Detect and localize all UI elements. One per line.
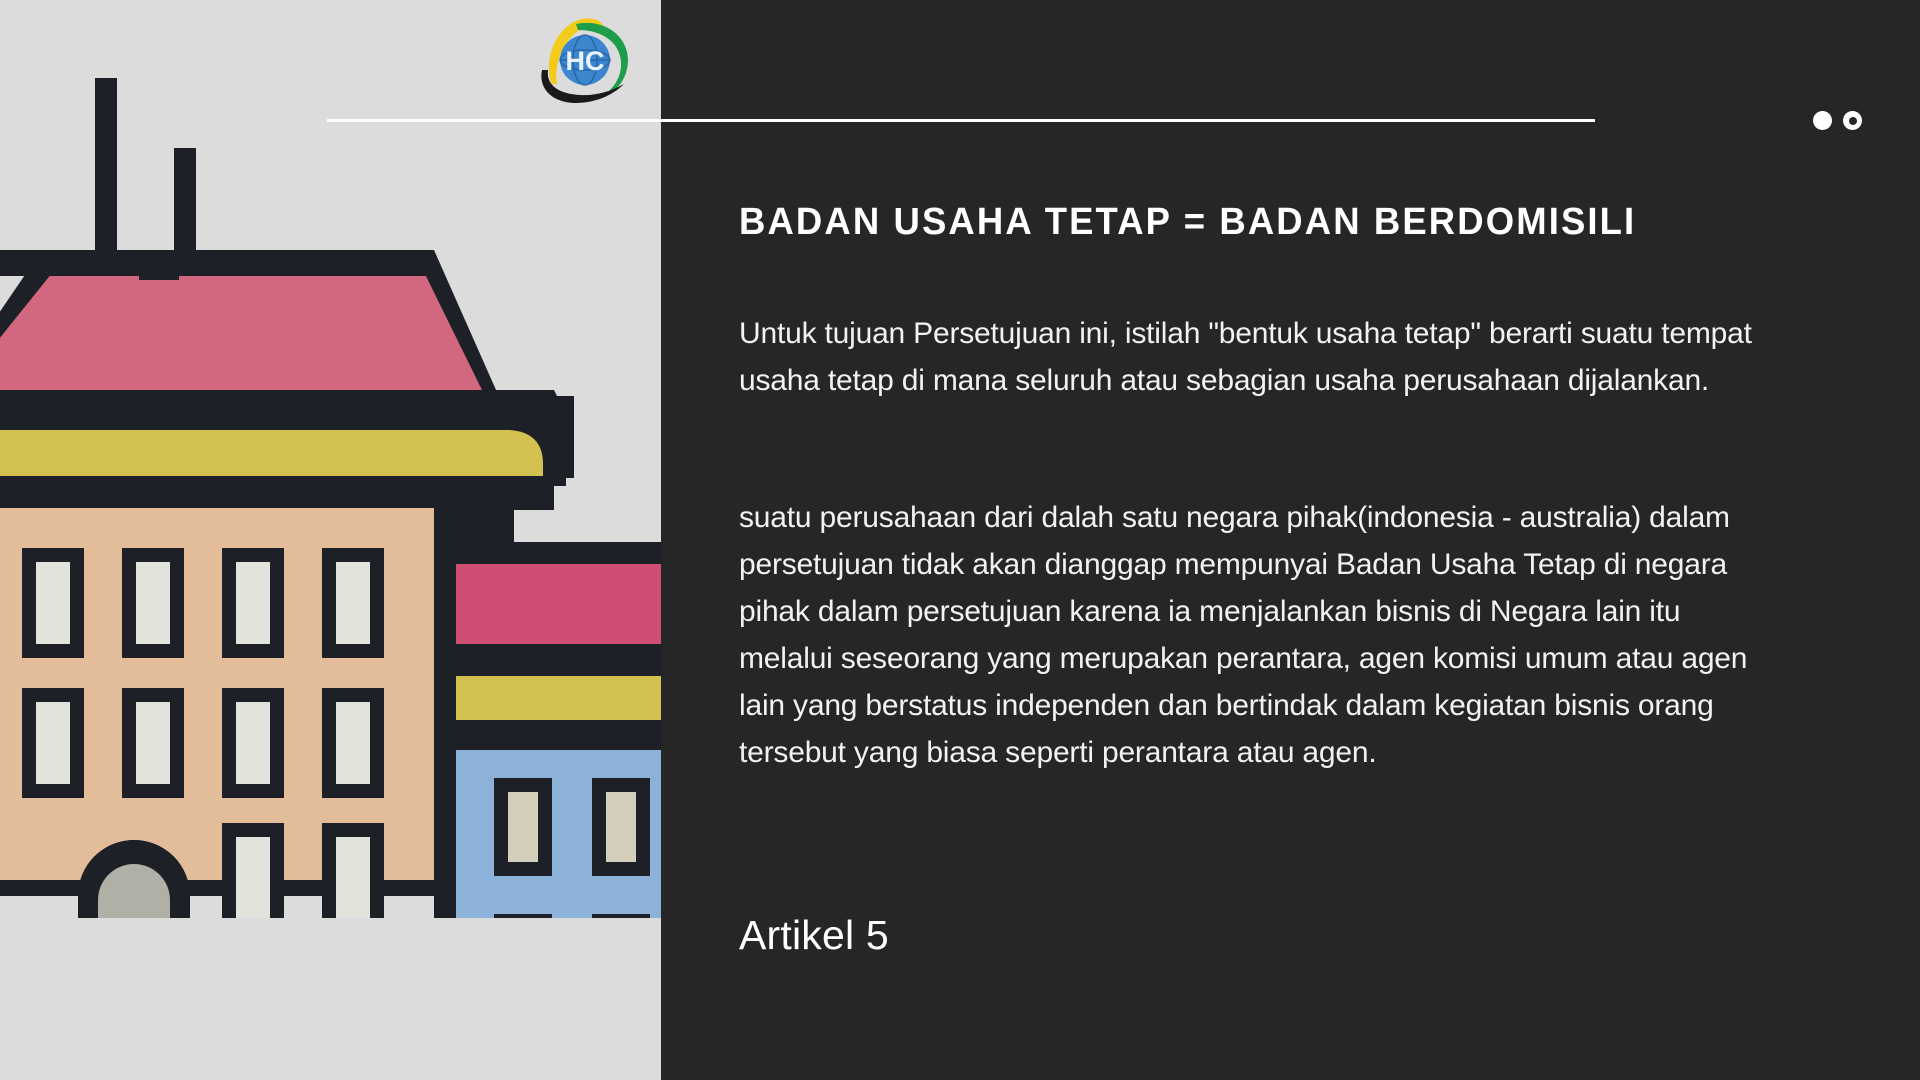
slide-root: HC BADAN USAHA TETAP = BADAN BERDOMISILI… xyxy=(0,0,1920,1080)
article-label: Artikel 5 xyxy=(739,912,889,959)
town-buildings-illustration xyxy=(0,78,661,918)
header-divider-line xyxy=(327,119,1595,122)
left-illustration-panel xyxy=(0,0,661,1080)
slide-title: BADAN USAHA TETAP = BADAN BERDOMISILI xyxy=(739,200,1636,244)
dot-ring-indicator[interactable] xyxy=(1843,111,1862,130)
body-paragraph-2: suatu perusahaan dari dalah satu negara … xyxy=(739,494,1779,776)
dot-filled-indicator[interactable] xyxy=(1813,111,1832,130)
company-globe-logo: HC xyxy=(536,8,636,110)
body-paragraph-1: Untuk tujuan Persetujuan ini, istilah "b… xyxy=(739,310,1779,404)
slide-content: BADAN USAHA TETAP = BADAN BERDOMISILI Un… xyxy=(739,0,1799,1080)
logo-letters: HC xyxy=(566,46,605,76)
slide-progress-dots[interactable] xyxy=(1813,111,1862,130)
